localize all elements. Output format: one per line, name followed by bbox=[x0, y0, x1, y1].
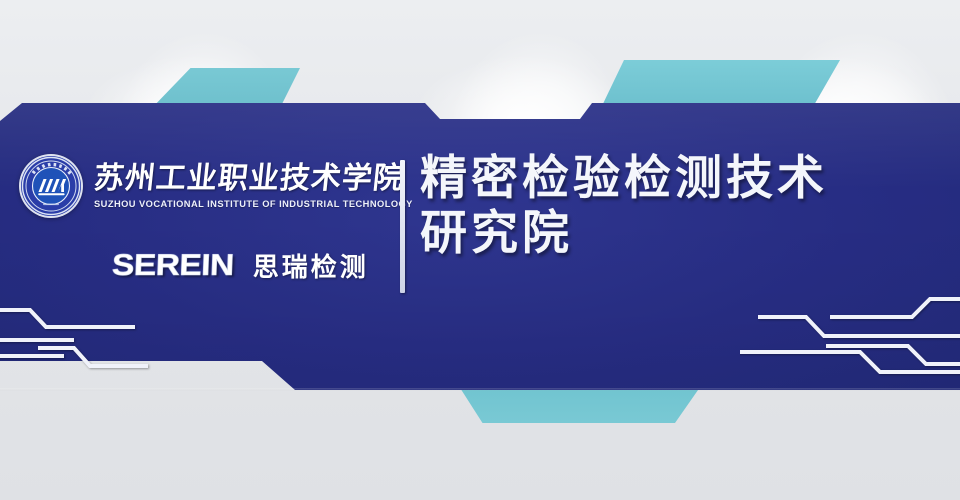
university-name-en: SUZHOU VOCATIONAL INSTITUTE OF INDUSTRIA… bbox=[94, 199, 413, 209]
board-content: 苏州工业职业技术学院 SUZHOU VOCATIONAL INSTITUTE O… bbox=[0, 103, 960, 390]
serein-wordmark: SEREIN bbox=[111, 249, 234, 283]
headline-line-1: 精密检验检测技术 bbox=[420, 151, 828, 206]
partner-lockup: SEREIN 思瑞检测 bbox=[112, 247, 369, 284]
signage-scene: 苏州工业职业技术学院 SUZHOU VOCATIONAL INSTITUTE O… bbox=[0, 0, 960, 500]
university-crest-icon bbox=[18, 153, 84, 219]
university-name-cn: 苏州工业职业技术学院 bbox=[92, 163, 414, 195]
university-lockup: 苏州工业职业技术学院 SUZHOU VOCATIONAL INSTITUTE O… bbox=[18, 153, 393, 219]
university-name-block: 苏州工业职业技术学院 SUZHOU VOCATIONAL INSTITUTE O… bbox=[94, 163, 413, 210]
page-title: 精密检验检测技术 研究院 bbox=[420, 151, 940, 261]
partner-name-cn: 思瑞检测 bbox=[253, 247, 369, 284]
headline-line-2: 研究院 bbox=[420, 206, 940, 261]
vertical-divider bbox=[400, 160, 405, 293]
